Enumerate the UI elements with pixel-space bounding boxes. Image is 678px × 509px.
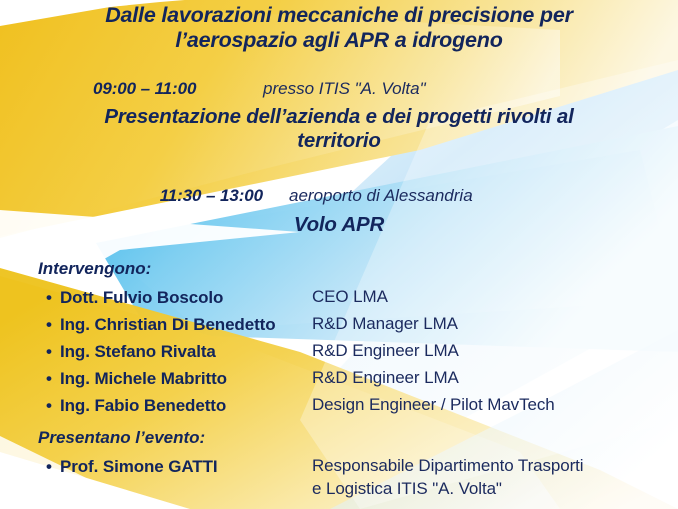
session-2-title-line-1: Volo APR xyxy=(0,213,678,237)
event-poster: Dalle lavorazioni meccaniche di precisio… xyxy=(0,0,678,509)
speaker-role: Design Engineer / Pilot MavTech xyxy=(312,393,555,417)
hosts-heading: Presentano l’evento: xyxy=(38,428,205,448)
speaker-name: Dott. Fulvio Boscolo xyxy=(60,285,312,310)
poster-title: Dalle lavorazioni meccaniche di precisio… xyxy=(40,3,638,53)
speaker-name: Ing. Michele Mabritto xyxy=(60,366,312,391)
speaker-role: R&D Manager LMA xyxy=(312,312,458,336)
host-role-line-1: Responsabile Dipartimento Trasporti xyxy=(312,454,583,477)
session-1-title-line-2: territorio xyxy=(0,129,678,153)
speaker-role: R&D Engineer LMA xyxy=(312,366,459,390)
session-1-title-line-1: Presentazione dell’azienda e dei progett… xyxy=(0,105,678,129)
speaker-name: Ing. Stefano Rivalta xyxy=(60,339,312,364)
session-2-time-row: 11:30 – 13:00 aeroporto di Alessandria xyxy=(0,186,678,206)
host-row-1: • Prof. Simone GATTI Responsabile Dipart… xyxy=(38,454,668,500)
speakers-list: • Dott. Fulvio Boscolo CEO LMA • Ing. Ch… xyxy=(38,285,668,420)
session-1-time: 09:00 – 11:00 xyxy=(85,79,263,99)
session-1-place: presso ITIS "A. Volta" xyxy=(263,79,593,99)
host-role: Responsabile Dipartimento Trasporti e Lo… xyxy=(312,454,583,500)
speaker-row-4: • Ing. Michele Mabritto R&D Engineer LMA xyxy=(38,366,668,393)
bullet-icon: • xyxy=(38,366,60,391)
session-2: 11:30 – 13:00 aeroporto di Alessandria V… xyxy=(0,186,678,237)
bullet-icon: • xyxy=(38,312,60,337)
speaker-name: Ing. Fabio Benedetto xyxy=(60,393,312,418)
speaker-name: Ing. Christian Di Benedetto xyxy=(60,312,312,337)
speakers-heading: Intervengono: xyxy=(38,259,151,279)
host-role-line-2: e Logistica ITIS "A. Volta" xyxy=(312,477,583,500)
speaker-role: R&D Engineer LMA xyxy=(312,339,459,363)
title-line-2: l’aerospazio agli APR a idrogeno xyxy=(40,28,638,53)
session-2-time: 11:30 – 13:00 xyxy=(85,186,263,206)
hosts-list: • Prof. Simone GATTI Responsabile Dipart… xyxy=(38,454,668,500)
speaker-row-2: • Ing. Christian Di Benedetto R&D Manage… xyxy=(38,312,668,339)
speaker-row-1: • Dott. Fulvio Boscolo CEO LMA xyxy=(38,285,668,312)
speaker-role: CEO LMA xyxy=(312,285,388,309)
session-1: 09:00 – 11:00 presso ITIS "A. Volta" Pre… xyxy=(0,79,678,153)
bullet-icon: • xyxy=(38,339,60,364)
host-name: Prof. Simone GATTI xyxy=(60,454,312,479)
session-1-title: Presentazione dell’azienda e dei progett… xyxy=(0,105,678,153)
session-2-place: aeroporto di Alessandria xyxy=(263,186,593,206)
session-1-time-row: 09:00 – 11:00 presso ITIS "A. Volta" xyxy=(0,79,678,99)
speaker-row-3: • Ing. Stefano Rivalta R&D Engineer LMA xyxy=(38,339,668,366)
bullet-icon: • xyxy=(38,285,60,310)
speaker-row-5: • Ing. Fabio Benedetto Design Engineer /… xyxy=(38,393,668,420)
session-2-title: Volo APR xyxy=(0,213,678,237)
bullet-icon: • xyxy=(38,393,60,418)
bullet-icon: • xyxy=(38,454,60,479)
title-line-1: Dalle lavorazioni meccaniche di precisio… xyxy=(40,3,638,28)
